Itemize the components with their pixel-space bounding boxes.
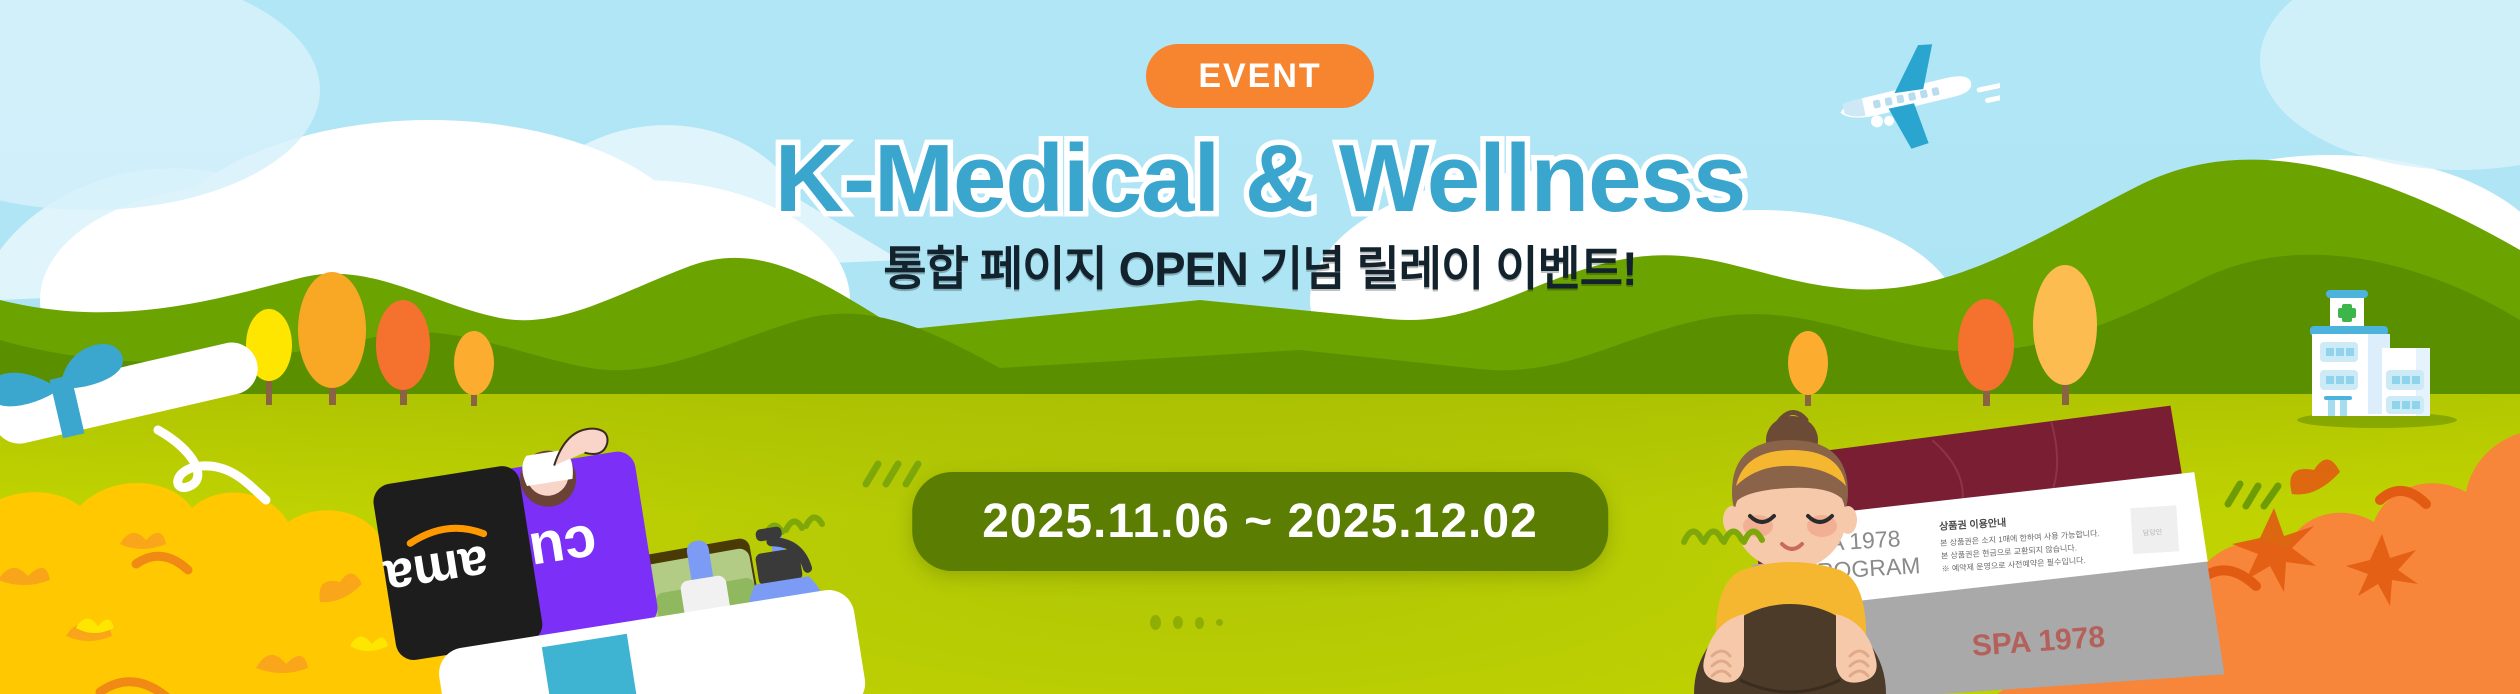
tree-amber-3	[1788, 331, 1828, 406]
promo-banner: cu ama	[0, 0, 2520, 694]
dot-1	[1150, 615, 1161, 630]
tree-orange-2	[1958, 299, 2014, 406]
amazon-gift-card: ama	[370, 464, 545, 663]
dot-2	[1173, 616, 1183, 629]
squiggle-white-left	[150, 420, 300, 510]
prize-cluster-left: cu ama	[330, 420, 890, 694]
squiggle-green-d	[1676, 506, 1786, 556]
tree-amber-2	[454, 331, 494, 406]
dot-3	[1195, 617, 1204, 629]
tree-orange-1	[376, 300, 430, 405]
page-title: K-Medical & Wellness	[775, 126, 1746, 232]
dot-4	[1216, 619, 1223, 626]
event-period-badge: 2025.11.06 ~ 2025.12.02	[912, 472, 1608, 571]
dot-decoration	[1150, 615, 1223, 630]
page-subtitle: 통합 페이지 OPEN 기념 릴레이 이벤트!	[883, 230, 1636, 299]
event-badge: EVENT	[1146, 44, 1373, 108]
svg-text:cu: cu	[525, 511, 602, 586]
headline-block: EVENT K-Medical & Wellness 통합 페이지 OPEN 기…	[0, 44, 2520, 299]
